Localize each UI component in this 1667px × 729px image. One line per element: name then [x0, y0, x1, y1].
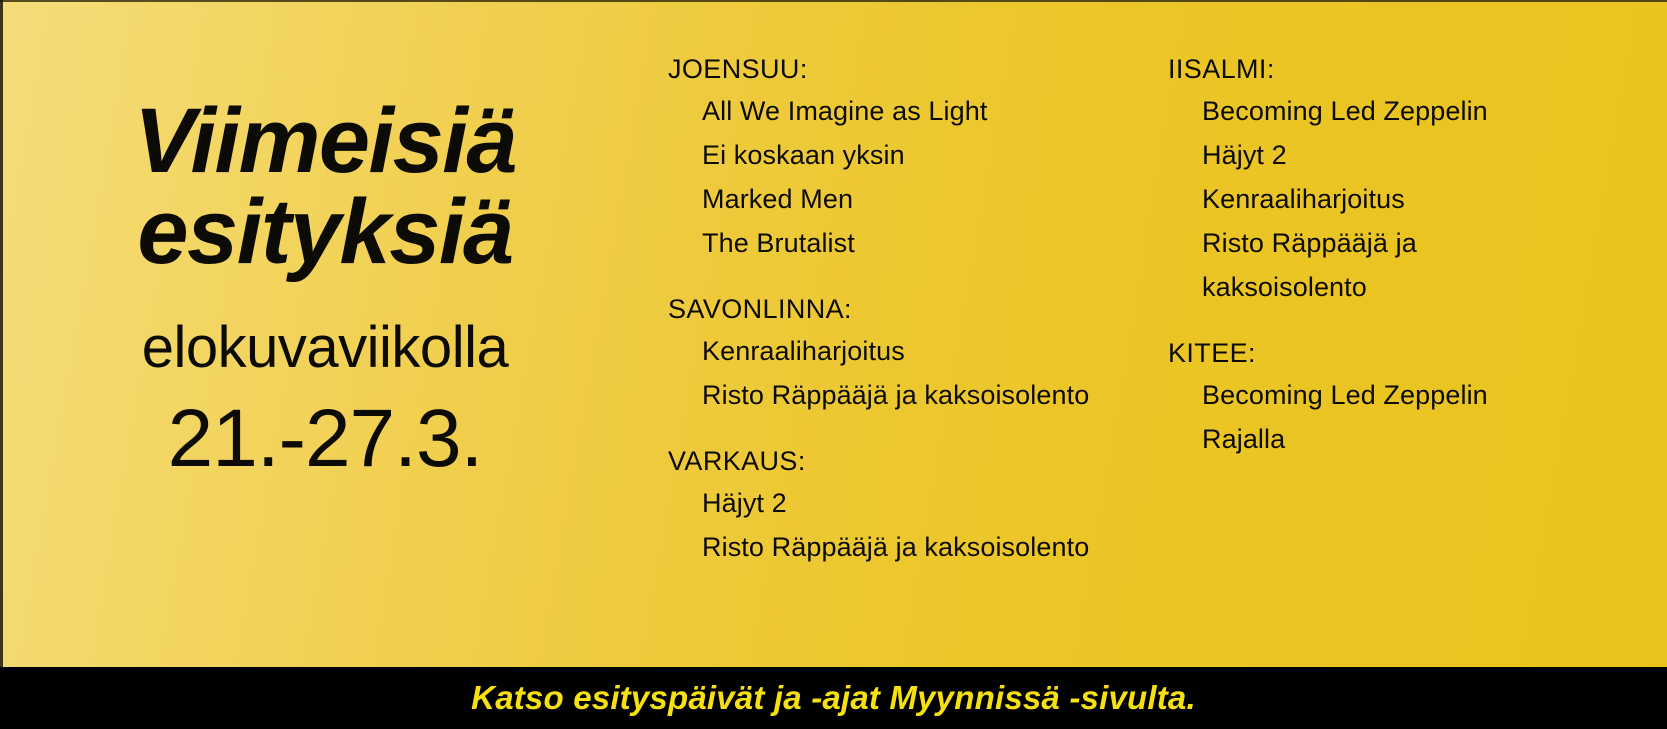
headline-line-2: esityksiä — [0, 187, 650, 278]
city-name: IISALMI: — [1168, 50, 1588, 89]
film-list: Becoming Led Zeppelin Rajalla — [1168, 373, 1588, 461]
headline-dates: 21.-27.3. — [0, 397, 650, 481]
film-item: The Brutalist — [702, 221, 1138, 265]
film-item: Risto Räppääjä ja kaksoisolento — [1202, 221, 1588, 309]
film-list: Kenraaliharjoitus Risto Räppääjä ja kaks… — [668, 329, 1138, 417]
city-name: SAVONLINNA: — [668, 290, 1138, 329]
listings-column-right: IISALMI: Becoming Led Zeppelin Häjyt 2 K… — [1168, 50, 1588, 461]
city-group: JOENSUU: All We Imagine as Light Ei kosk… — [668, 50, 1138, 265]
film-list: All We Imagine as Light Ei koskaan yksin… — [668, 89, 1138, 265]
city-name: JOENSUU: — [668, 50, 1138, 89]
film-item: All We Imagine as Light — [702, 89, 1138, 133]
film-item: Risto Räppääjä ja kaksoisolento — [702, 373, 1138, 417]
film-item: Risto Räppääjä ja kaksoisolento — [702, 525, 1138, 569]
top-edge-line — [0, 0, 1667, 2]
film-item: Kenraaliharjoitus — [1202, 177, 1588, 221]
headline-subtitle: elokuvaviikolla — [0, 318, 650, 379]
city-group: IISALMI: Becoming Led Zeppelin Häjyt 2 K… — [1168, 50, 1588, 309]
film-item: Marked Men — [702, 177, 1138, 221]
city-group: VARKAUS: Häjyt 2 Risto Räppääjä ja kakso… — [668, 442, 1138, 569]
film-list: Becoming Led Zeppelin Häjyt 2 Kenraaliha… — [1168, 89, 1588, 309]
film-item: Becoming Led Zeppelin — [1202, 89, 1588, 133]
city-name: VARKAUS: — [668, 442, 1138, 481]
film-item: Rajalla — [1202, 417, 1588, 461]
film-list: Häjyt 2 Risto Räppääjä ja kaksoisolento — [668, 481, 1138, 569]
headline-line-1: Viimeisiä — [0, 96, 650, 187]
footer-bar: Katso esityspäivät ja -ajat Myynnissä -s… — [0, 667, 1667, 729]
film-item: Häjyt 2 — [1202, 133, 1588, 177]
footer-text: Katso esityspäivät ja -ajat Myynnissä -s… — [471, 679, 1196, 717]
film-item: Häjyt 2 — [702, 481, 1138, 525]
headline-block: Viimeisiä esityksiä elokuvaviikolla 21.-… — [0, 96, 650, 481]
film-item: Ei koskaan yksin — [702, 133, 1138, 177]
listings-column-middle: JOENSUU: All We Imagine as Light Ei kosk… — [668, 50, 1138, 569]
film-item: Becoming Led Zeppelin — [1202, 373, 1588, 417]
promo-banner: Viimeisiä esityksiä elokuvaviikolla 21.-… — [0, 0, 1667, 729]
city-group: SAVONLINNA: Kenraaliharjoitus Risto Räpp… — [668, 290, 1138, 417]
city-name: KITEE: — [1168, 334, 1588, 373]
city-group: KITEE: Becoming Led Zeppelin Rajalla — [1168, 334, 1588, 461]
film-item: Kenraaliharjoitus — [702, 329, 1138, 373]
